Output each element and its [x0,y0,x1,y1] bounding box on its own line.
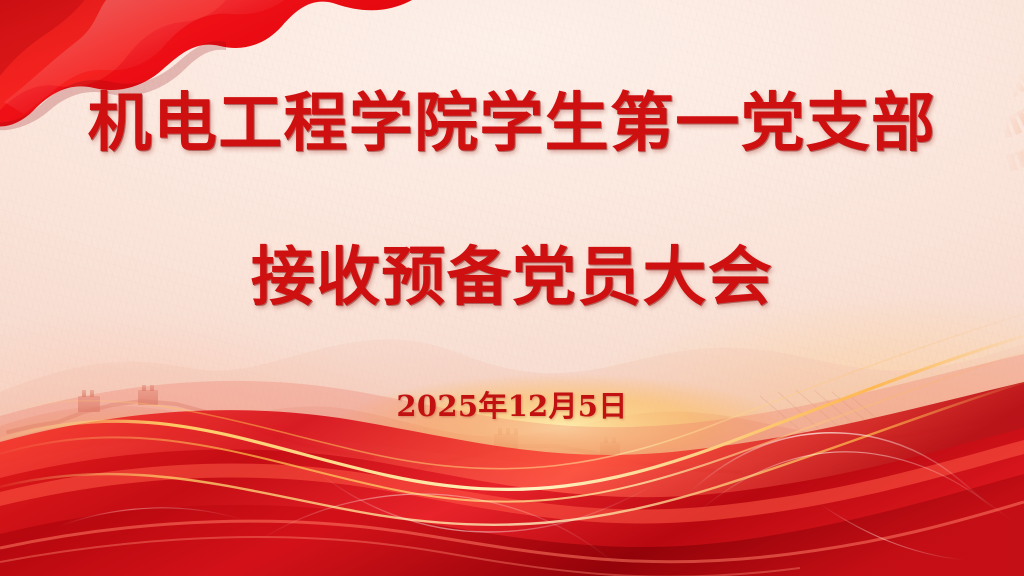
poster-canvas: 机电工程学院学生第一党支部 接收预备党员大会 2025年12月5日 [0,0,1024,576]
red-silk-wave-ribbons [0,296,1024,576]
page-title-line-2: 接收预备党员大会 [0,246,1024,310]
event-date: 2025年12月5日 [0,383,1024,425]
page-title-line-1: 机电工程学院学生第一党支部 [0,92,1024,156]
